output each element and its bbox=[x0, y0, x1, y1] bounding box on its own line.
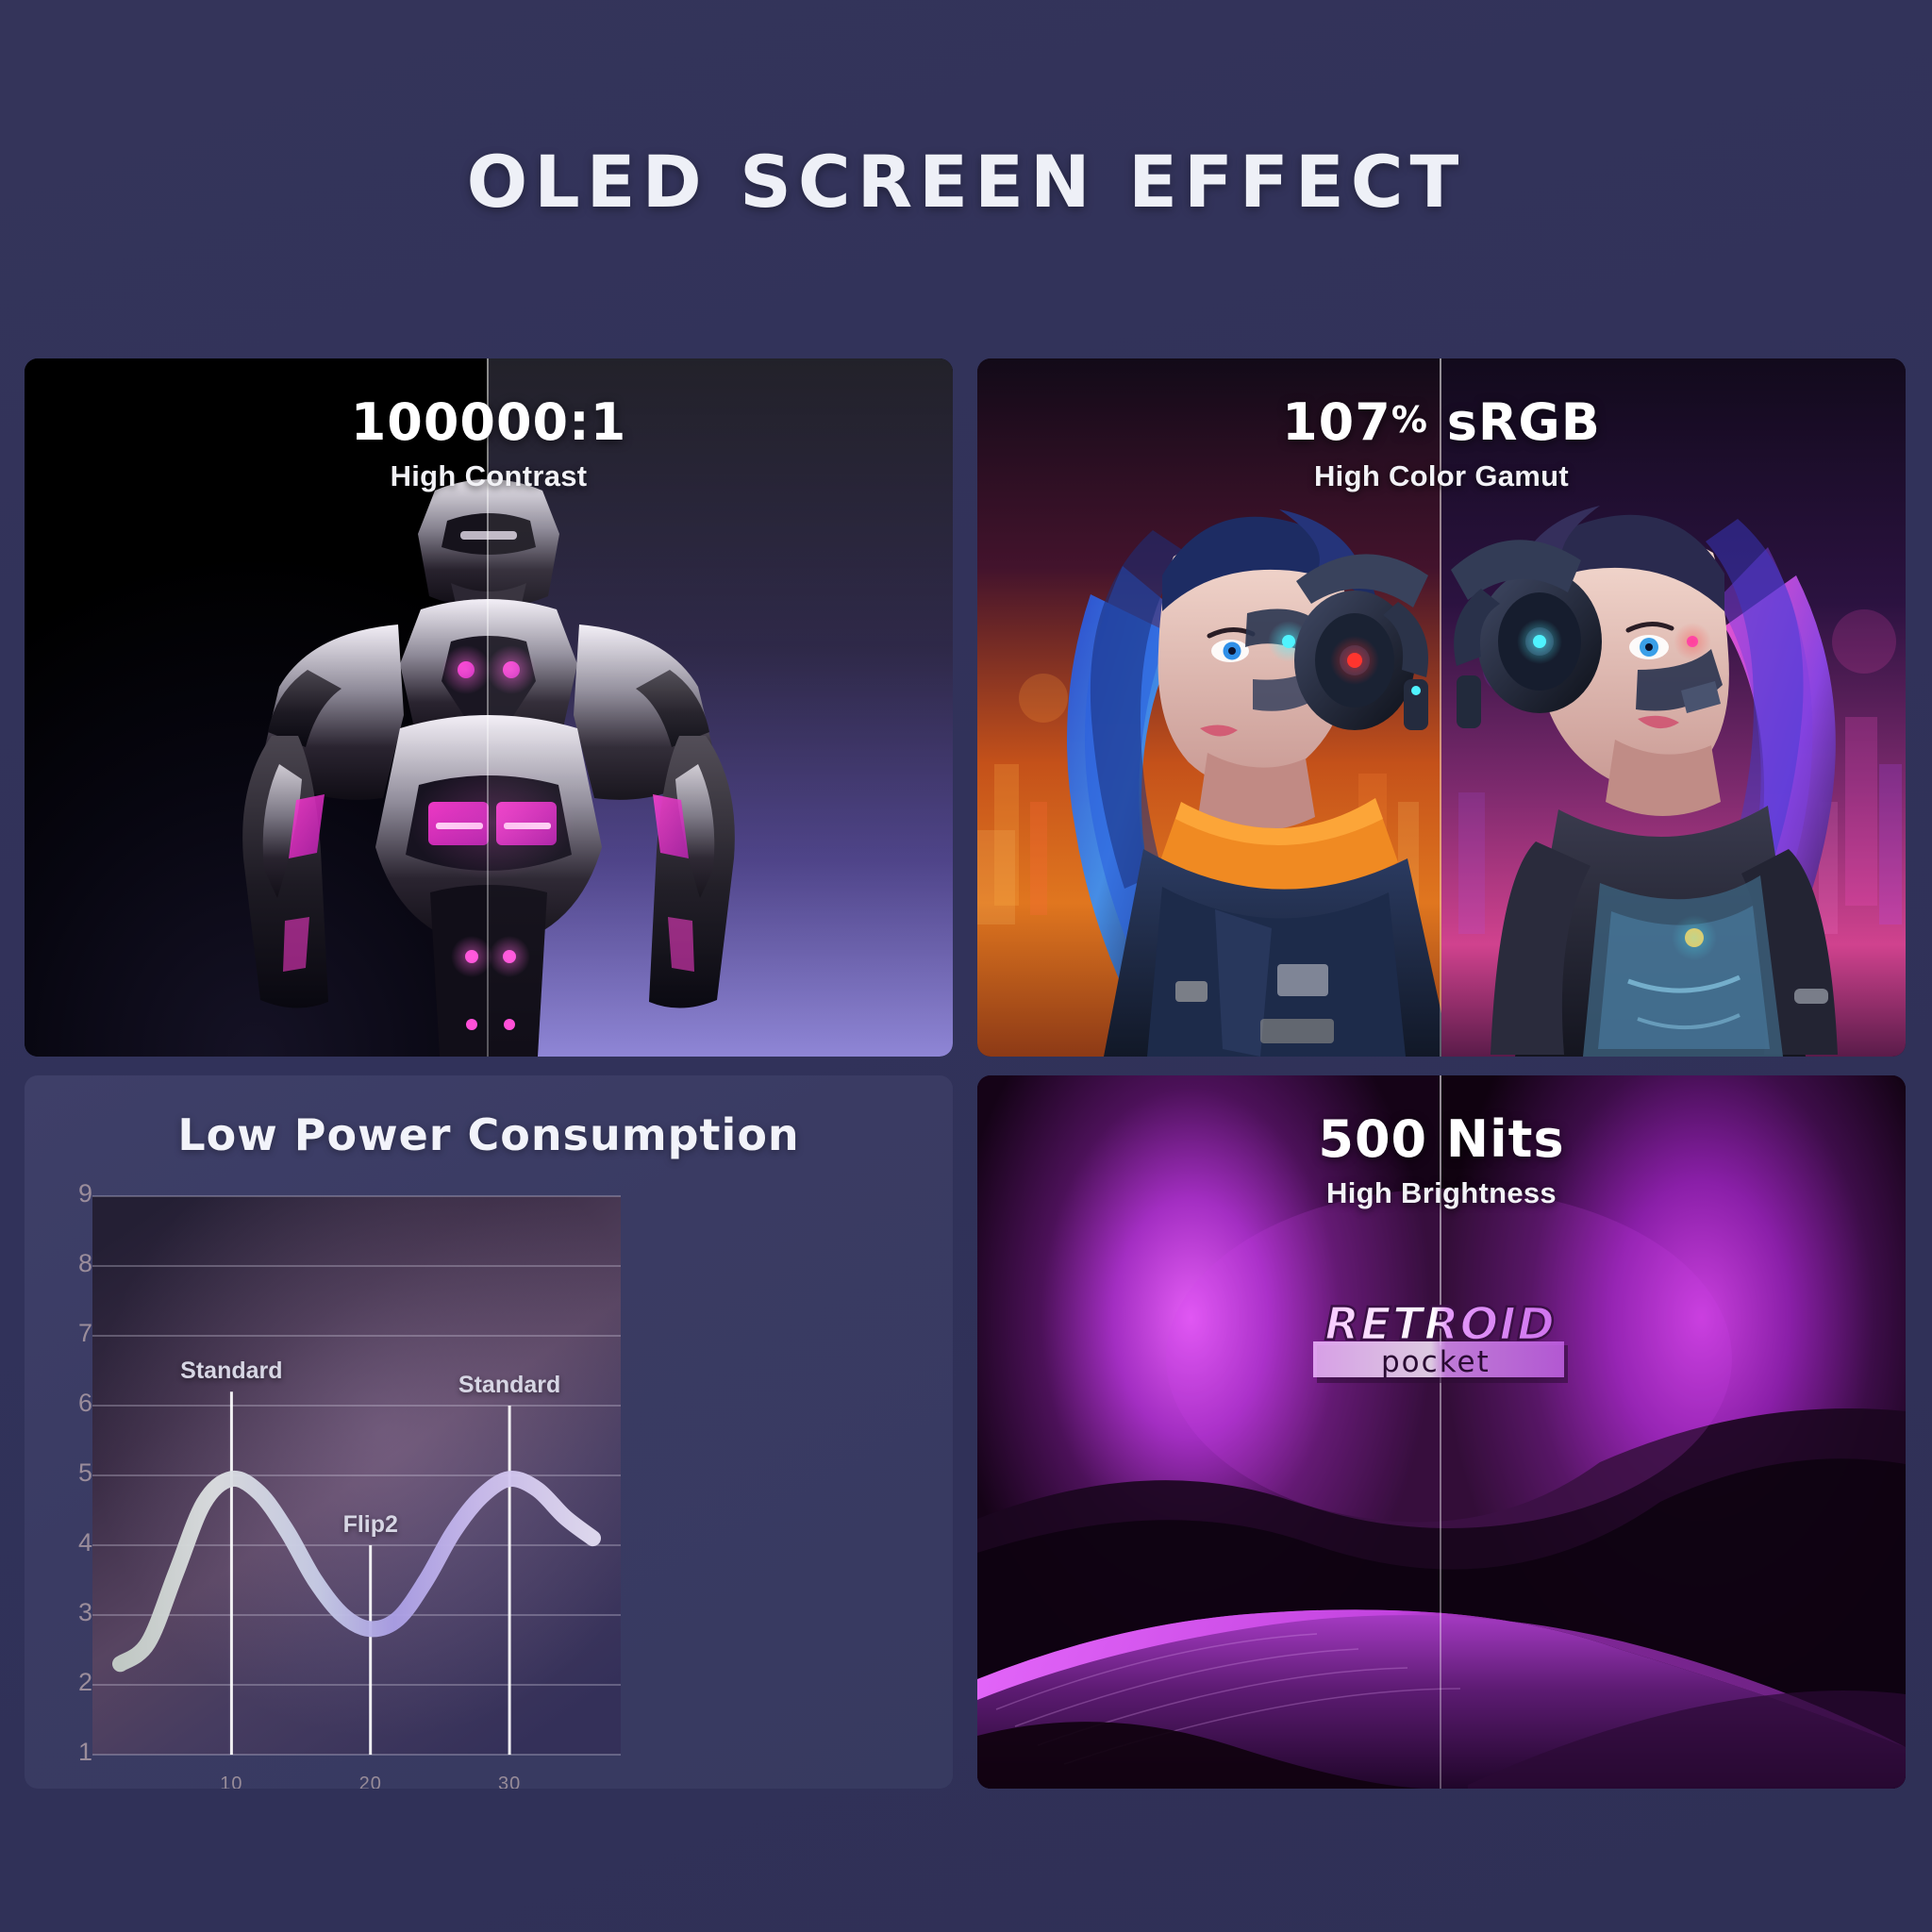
brightness-split-line bbox=[1440, 1075, 1441, 1789]
annotation-standard-1: Standard bbox=[180, 1357, 282, 1385]
y-axis-label-5: 5 bbox=[53, 1458, 92, 1488]
retroid-pocket-logo: RETROID pocket bbox=[1300, 1292, 1583, 1403]
y-axis-label-3: 3 bbox=[53, 1598, 92, 1627]
annotation-standard-2: Standard bbox=[458, 1372, 560, 1399]
power-chart: 9 8 7 6 5 4 3 2 1 10 20 30 Standard Flip… bbox=[25, 1075, 953, 1789]
x-axis-label-30: 30 bbox=[481, 1774, 538, 1789]
page-title: OLED SCREEN EFFECT bbox=[0, 140, 1932, 224]
contrast-split-line bbox=[487, 358, 489, 1057]
mecha-warrior-image bbox=[25, 358, 953, 1057]
y-axis-label-2: 2 bbox=[53, 1668, 92, 1697]
x-axis-label-20: 20 bbox=[342, 1774, 399, 1789]
y-axis-label-7: 7 bbox=[53, 1319, 92, 1348]
low-power-panel: Low Power Consumption bbox=[25, 1075, 953, 1789]
y-axis-label-4: 4 bbox=[53, 1528, 92, 1557]
x-axis-label-10: 10 bbox=[203, 1774, 259, 1789]
gamut-split-line bbox=[1440, 358, 1441, 1057]
y-axis-label-6: 6 bbox=[53, 1389, 92, 1418]
color-gamut-panel: 107% sRGB High Color Gamut bbox=[977, 358, 1906, 1057]
contrast-panel: 100000:1 High Contrast bbox=[25, 358, 953, 1057]
brightness-panel: 500 Nits High Brightness bbox=[977, 1075, 1906, 1789]
y-axis-label-9: 9 bbox=[53, 1179, 92, 1208]
infographic-root: OLED SCREEN EFFECT bbox=[0, 0, 1932, 1932]
retroid-wordmark: RETROID bbox=[1324, 1298, 1556, 1351]
purple-landscape-image bbox=[977, 1075, 1906, 1789]
pocket-wordmark: pocket bbox=[1381, 1345, 1491, 1379]
y-axis-label-1: 1 bbox=[53, 1738, 92, 1767]
annotation-flip2: Flip2 bbox=[343, 1511, 398, 1539]
cyberpunk-portrait-image bbox=[977, 358, 1906, 1057]
y-axis-label-8: 8 bbox=[53, 1249, 92, 1278]
